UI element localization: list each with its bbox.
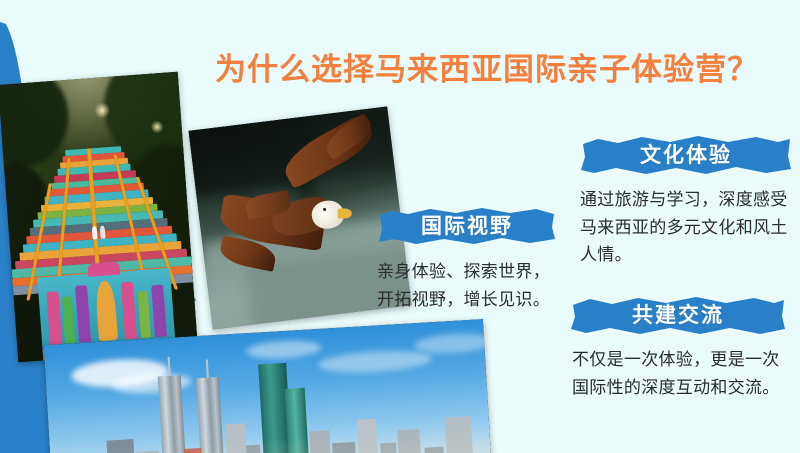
feature-text-co-creation-exchange: 不仅是一次体验，更是一次国际性的深度互动和交流。 <box>572 346 790 401</box>
badge-co-creation-exchange: 共建交流 <box>570 294 786 336</box>
badge-label: 文化体验 <box>640 145 732 166</box>
badge-cultural-experience: 文化体验 <box>580 134 792 176</box>
badge-international-vision: 国际视野 <box>378 206 556 246</box>
badge-label: 国际视野 <box>421 216 513 237</box>
feature-text-cultural-experience: 通过旅游与学习，深度感受马来西亚的多元文化和风土人情。 <box>580 186 792 269</box>
badge-label: 共建交流 <box>632 305 724 326</box>
poster-canvas: 为什么选择马来西亚国际亲子体验营？ <box>0 0 800 453</box>
photo-batu-caves-stairs <box>0 72 198 362</box>
page-title: 为什么选择马来西亚国际亲子体验营？ <box>215 44 790 89</box>
feature-text-international-vision: 亲身体验、探索世界，开拓视野，增长见识。 <box>377 258 557 313</box>
